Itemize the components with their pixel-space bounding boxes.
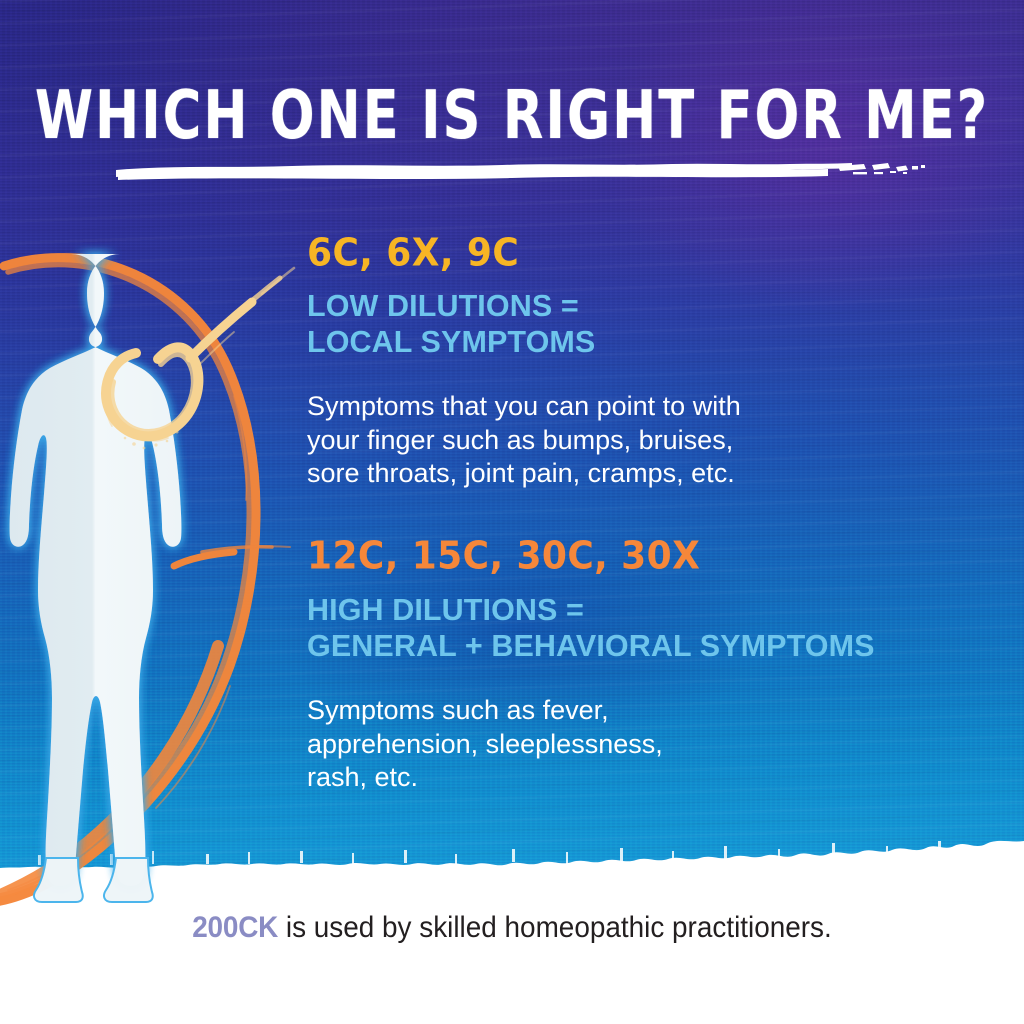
infographic-poster: WHICH ONE IS RIGHT FOR ME? 6C, 6X, 9C LO… — [0, 0, 1024, 1024]
body-line-1: Symptoms that you can point to with — [307, 390, 741, 424]
page-title: WHICH ONE IS RIGHT FOR ME? — [20, 82, 1003, 149]
section-2-dilution-label: 12C, 15C, 30C, 30X — [307, 539, 700, 575]
white-brush-underline — [112, 160, 930, 188]
section-2-subtitle: HIGH DILUTIONS = GENERAL + BEHAVIORAL SY… — [307, 592, 875, 664]
section-1-dilution-label: 6C, 6X, 9C — [307, 236, 519, 272]
subtitle-line-2: GENERAL + BEHAVIORAL SYMPTOMS — [307, 628, 875, 664]
body-line-1: Symptoms such as fever, — [307, 694, 663, 728]
footer-text: is used by skilled homeopathic practitio… — [278, 911, 832, 944]
human-figure-graphic — [0, 246, 292, 906]
figure-feet — [34, 858, 153, 902]
body-line-2: apprehension, sleeplessness, — [307, 728, 663, 762]
body-line-2: your finger such as bumps, bruises, — [307, 424, 741, 458]
dilution-label: 12C, 15C, 30C, 30X — [307, 538, 700, 576]
dilution-label: 6C, 6X, 9C — [307, 235, 519, 273]
footer-caption: 200CK is used by skilled homeopathic pra… — [36, 911, 988, 945]
section-2-body: Symptoms such as fever, apprehension, sl… — [307, 694, 663, 795]
body-line-3: rash, etc. — [307, 761, 663, 795]
subtitle-line-2: LOCAL SYMPTOMS — [307, 324, 595, 360]
section-1-body: Symptoms that you can point to with your… — [307, 390, 741, 491]
footer-code: 200CK — [192, 911, 278, 944]
subtitle-line-1: HIGH DILUTIONS = — [307, 592, 875, 628]
subtitle-line-1: LOW DILUTIONS = — [307, 288, 595, 324]
body-line-3: sore throats, joint pain, cramps, etc. — [307, 457, 741, 491]
section-1-subtitle: LOW DILUTIONS = LOCAL SYMPTOMS — [307, 288, 595, 360]
